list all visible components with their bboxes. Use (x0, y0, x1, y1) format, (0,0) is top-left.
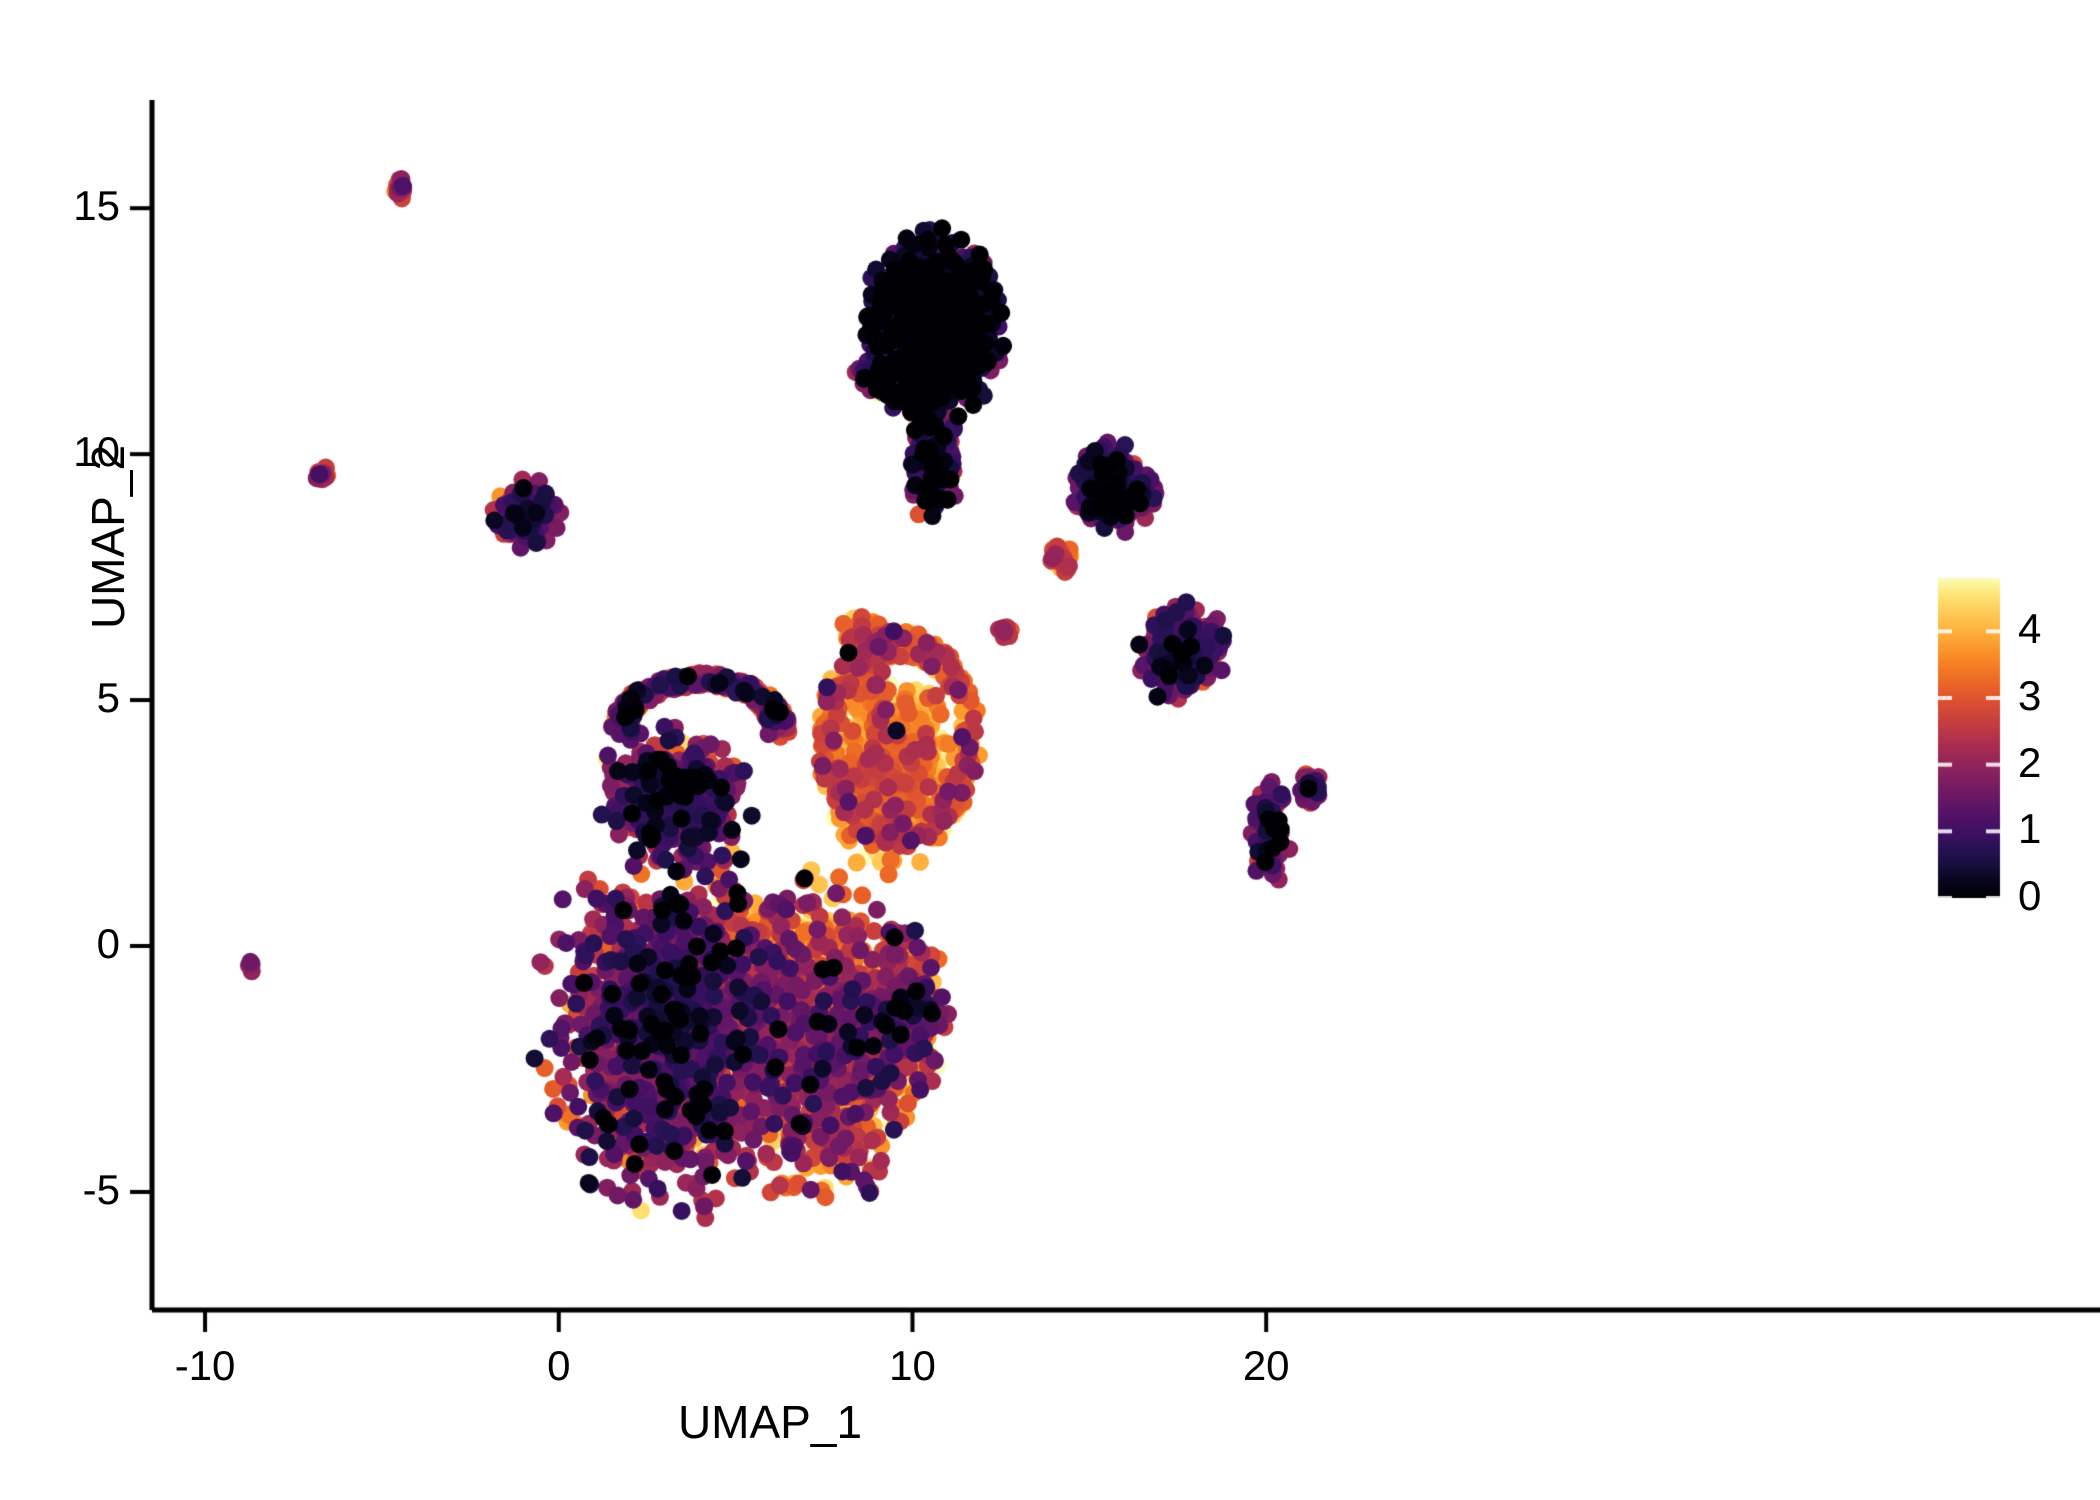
y-axis-title: UMAP_2 (81, 137, 135, 937)
colorbar-tick-label: 1 (2018, 805, 2098, 853)
y-tick-label: 15 (0, 182, 120, 230)
x-tick-label: -10 (125, 1342, 285, 1390)
scatter-plot-canvas (0, 0, 2100, 1500)
x-tick-label: 0 (479, 1342, 639, 1390)
colorbar-tick-label: 2 (2018, 739, 2098, 787)
colorbar-tick-label: 4 (2018, 605, 2098, 653)
x-axis-title: UMAP_1 (150, 1395, 1390, 1449)
x-tick-label: 10 (832, 1342, 992, 1390)
y-tick-label: 0 (0, 920, 120, 968)
umap-feature-plot: ENSSSCG00000037879 UMAP_1 UMAP_2 -100102… (0, 0, 2100, 1500)
y-tick-label: 10 (0, 428, 120, 476)
colorbar-tick-label: 0 (2018, 872, 2098, 920)
x-tick-label: 20 (1186, 1342, 1346, 1390)
y-tick-label: 5 (0, 674, 120, 722)
y-tick-label: -5 (0, 1166, 120, 1214)
colorbar-tick-label: 3 (2018, 672, 2098, 720)
plot-canvas-container (0, 0, 2100, 1500)
